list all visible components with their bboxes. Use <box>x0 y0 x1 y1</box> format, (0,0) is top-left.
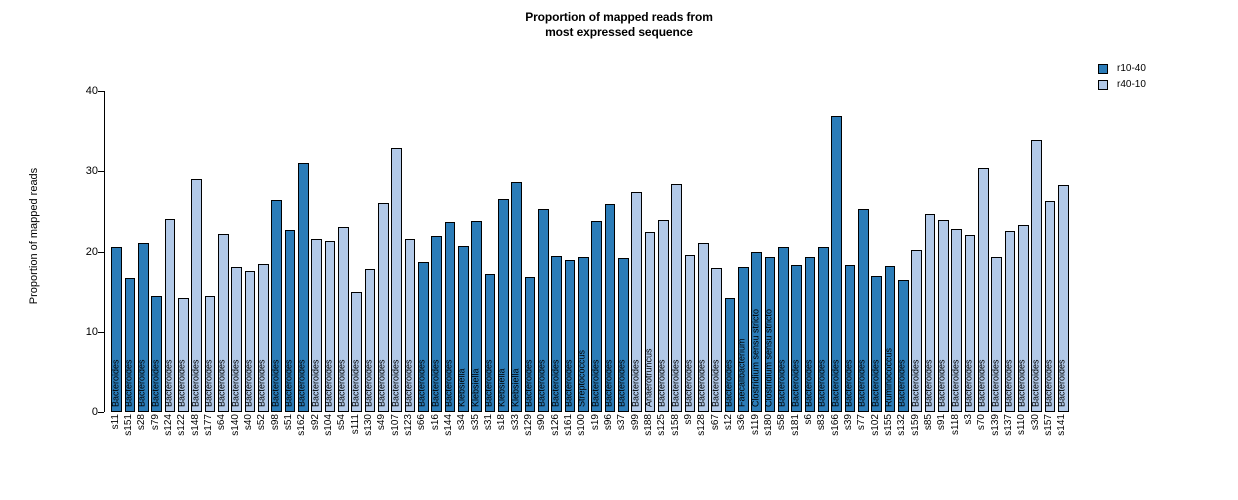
bar-s140[interactable]: Bacteroides <box>231 267 242 412</box>
legend-item-r10-40[interactable]: r10-40 <box>1098 62 1146 76</box>
plot-area: BacteroidesBacteroidesBacteroidesBactero… <box>110 91 1070 412</box>
y-tick-label-10: 10 <box>58 326 98 338</box>
bar-s9[interactable]: Bacteroides <box>685 255 696 412</box>
bar-genus-label: Bacteroides <box>791 359 796 407</box>
bar-genus-label: Bacteroides <box>711 359 716 407</box>
bar-genus-label: Bacteroides <box>1031 359 1036 407</box>
x-tick-label-s140: s140 <box>231 414 243 436</box>
x-tick-label-s18: s18 <box>497 414 509 430</box>
x-tick-label-s181: s181 <box>791 414 803 436</box>
x-tick-label-s85: s85 <box>924 414 936 430</box>
x-tick-label-s144: s144 <box>444 414 456 436</box>
bar-s181[interactable]: Bacteroides <box>791 265 802 412</box>
bar-genus-label: Bacteroides <box>298 359 303 407</box>
legend-item-r40-10[interactable]: r40-10 <box>1098 78 1146 92</box>
x-tick-label-s70: s70 <box>977 414 989 430</box>
bar-genus-label: Bacteroides <box>671 359 676 407</box>
bar-s130[interactable]: Bacteroides <box>365 269 376 412</box>
x-tick-label-s34: s34 <box>457 414 469 430</box>
bar-genus-label: Bacteroides <box>258 359 263 407</box>
x-tick-label-s12: s12 <box>724 414 736 430</box>
bar-genus-label: Bacteroides <box>191 359 196 407</box>
bar-s85[interactable]: Bacteroides <box>925 214 936 412</box>
bar-genus-label: Bacteroides <box>178 359 183 407</box>
bar-genus-label: Klebsiella <box>471 368 476 407</box>
bar-s70[interactable]: Bacteroides <box>978 168 989 412</box>
x-tick-label-s130: s130 <box>364 414 376 436</box>
x-tick-label-s137: s137 <box>1004 414 1016 436</box>
y-tick-label-40: 40 <box>58 85 98 97</box>
x-tick-label-s28: s28 <box>137 414 149 430</box>
bar-genus-label: Bacteroides <box>698 359 703 407</box>
legend-swatch-r10-40 <box>1098 64 1108 74</box>
bar-genus-label: Faecalibacterium <box>738 338 743 407</box>
y-tick-label-30: 30 <box>58 165 98 177</box>
bar-s40[interactable]: Bacteroides <box>245 271 256 412</box>
bar-genus-label: Bacteroides <box>151 359 156 407</box>
bar-s125[interactable]: Bacteroides <box>658 220 669 412</box>
x-tick-label-s54: s54 <box>337 414 349 430</box>
bar-s118[interactable]: Bacteroides <box>951 229 962 412</box>
chart-title-line2: most expressed sequence <box>0 25 1238 40</box>
x-tick-label-s99: s99 <box>631 414 643 430</box>
y-axis-line <box>104 91 105 412</box>
bar-s37[interactable]: Bacteroides <box>618 258 629 412</box>
bar-genus-label: Bacteroides <box>525 359 530 407</box>
bar-s100[interactable]: Streptococcus <box>578 257 589 412</box>
x-tick-label-s6: s6 <box>804 414 816 425</box>
x-tick-label-s39: s39 <box>844 414 856 430</box>
bar-s96[interactable]: Bacteroides <box>605 204 616 412</box>
bar-genus-label: Klebsiella <box>498 368 503 407</box>
bar-s102[interactable]: Bacteroides <box>871 276 882 412</box>
bar-genus-label: Clostridium sensu stricto <box>751 309 756 407</box>
bar-genus-label: Bacteroides <box>338 359 343 407</box>
bar-s34[interactable]: Klebsiella <box>458 246 469 412</box>
x-tick-label-s111: s111 <box>351 414 363 434</box>
bar-genus-label: Bacteroides <box>485 359 490 407</box>
bar-genus-label: Bacteroides <box>938 359 943 407</box>
x-tick-label-s67: s67 <box>711 414 723 430</box>
bar-genus-label: Bacteroides <box>1045 359 1050 407</box>
bar-s39[interactable]: Bacteroides <box>845 265 856 412</box>
bar-genus-label: Bacteroides <box>165 359 170 407</box>
x-tick-label-s33: s33 <box>511 414 523 430</box>
bar-s30[interactable]: Bacteroides <box>1031 140 1042 412</box>
x-tick-label-s51: s51 <box>284 414 296 430</box>
x-tick-label-s104: s104 <box>324 414 336 436</box>
x-tick-label-s16: s16 <box>431 414 443 430</box>
bar-genus-label: Bacteroides <box>218 359 223 407</box>
x-tick-label-s162: s162 <box>297 414 309 436</box>
x-tick-label-s126: s126 <box>551 414 563 436</box>
bar-s128[interactable]: Bacteroides <box>698 243 709 412</box>
bar-s151[interactable]: Bacteroides <box>125 278 136 412</box>
x-tick-label-s19: s19 <box>591 414 603 430</box>
bar-genus-label: Bacteroides <box>685 359 690 407</box>
x-tick-label-s177: s177 <box>204 414 216 436</box>
bar-genus-label: Bacteroides <box>271 359 276 407</box>
x-tick-label-s49: s49 <box>377 414 389 430</box>
bar-genus-label: Bacteroides <box>231 359 236 407</box>
x-tick-label-s151: s151 <box>124 414 136 436</box>
x-tick-label-s77: s77 <box>857 414 869 430</box>
bar-s111[interactable]: Bacteroides <box>351 292 362 412</box>
bar-s77[interactable]: Bacteroides <box>858 209 869 412</box>
y-tick-30 <box>98 171 104 172</box>
bar-genus-label: Bacteroides <box>1005 359 1010 407</box>
x-tick-label-s9: s9 <box>684 414 696 425</box>
x-tick-label-s90: s90 <box>537 414 549 430</box>
bar-genus-label: Bacteroides <box>551 359 556 407</box>
bar-s66[interactable]: Bacteroides <box>418 262 429 412</box>
bar-s90[interactable]: Bacteroides <box>538 209 549 412</box>
x-tick-label-s110: s110 <box>1017 414 1029 435</box>
x-tick-label-s157: s157 <box>1044 414 1056 436</box>
x-tick-label-s188: s188 <box>644 414 656 436</box>
x-tick-label-s125: s125 <box>657 414 669 436</box>
bar-s54[interactable]: Bacteroides <box>338 227 349 412</box>
chart-title-line1: Proportion of mapped reads from <box>525 10 713 24</box>
bar-s83[interactable]: Bacteroides <box>818 247 829 412</box>
bar-s132[interactable]: Bacteroides <box>898 280 909 412</box>
x-tick-label-s124: s124 <box>164 414 176 436</box>
y-tick-40 <box>98 91 104 92</box>
x-tick-label-s31: s31 <box>484 414 496 430</box>
bar-genus-label: Bacteroides <box>605 359 610 407</box>
x-tick-label-s158: s158 <box>671 414 683 436</box>
bar-s58[interactable]: Bacteroides <box>778 247 789 412</box>
x-tick-label-s122: s122 <box>177 414 189 436</box>
x-tick-label-s155: s155 <box>884 414 896 436</box>
x-tick-label-s107: s107 <box>391 414 403 436</box>
bar-s129[interactable]: Bacteroides <box>525 277 536 412</box>
bar-s166[interactable]: Bacteroides <box>831 116 842 412</box>
x-tick-label-s30: s30 <box>1031 414 1043 430</box>
bar-s139[interactable]: Bacteroides <box>991 257 1002 412</box>
bar-s31[interactable]: Bacteroides <box>485 274 496 412</box>
bar-s51[interactable]: Bacteroides <box>285 230 296 412</box>
bar-s28[interactable]: Bacteroides <box>138 243 149 412</box>
bar-genus-label: Bacteroides <box>418 359 423 407</box>
y-tick-20 <box>98 252 104 253</box>
x-tick-label-s64: s64 <box>217 414 229 430</box>
bar-chart-figure: Proportion of mapped reads from most exp… <box>0 0 1238 500</box>
bar-s98[interactable]: Bacteroides <box>271 200 282 412</box>
bar-genus-label: Bacteroides <box>391 359 396 407</box>
bar-s119[interactable]: Clostridium sensu stricto <box>751 252 762 412</box>
bar-genus-label: Streptococcus <box>578 350 583 407</box>
bar-s141[interactable]: Bacteroides <box>1058 185 1069 412</box>
bar-s11[interactable]: Bacteroides <box>111 247 122 412</box>
x-tick-label-s11: s11 <box>111 414 123 429</box>
chart-title: Proportion of mapped reads from most exp… <box>0 10 1238 40</box>
x-tick-label-s180: s180 <box>764 414 776 436</box>
bar-s148[interactable]: Bacteroides <box>191 179 202 412</box>
bar-s18[interactable]: Klebsiella <box>498 199 509 412</box>
bar-genus-label: Klebsiella <box>458 368 463 407</box>
bar-genus-label: Bacteroides <box>205 359 210 407</box>
bar-genus-label: Bacteroides <box>805 359 810 407</box>
bar-s177[interactable]: Bacteroides <box>205 296 216 412</box>
bar-genus-label: Bacteroides <box>365 359 370 407</box>
x-tick-label-s139: s139 <box>991 414 1003 436</box>
bar-genus-label: Bacteroides <box>351 359 356 407</box>
bar-genus-label: Bacteroides <box>831 359 836 407</box>
legend-label-r10-40: r10-40 <box>1117 64 1146 74</box>
bar-s91[interactable]: Bacteroides <box>938 220 949 412</box>
x-tick-label-s79: s79 <box>151 414 163 430</box>
y-tick-label-0: 0 <box>58 406 98 418</box>
x-tick-label-s132: s132 <box>897 414 909 436</box>
bar-s188[interactable]: Anaerotruncus <box>645 232 656 412</box>
chart-legend: r10-40 r40-10 <box>1098 62 1146 94</box>
x-tick-label-s52: s52 <box>257 414 269 430</box>
bar-s180[interactable]: Clostridium sensu stricto <box>765 257 776 412</box>
x-tick-label-s118: s118 <box>951 414 963 435</box>
bar-s104[interactable]: Bacteroides <box>325 241 336 412</box>
bar-s126[interactable]: Bacteroides <box>551 256 562 412</box>
x-tick-label-s129: s129 <box>524 414 536 436</box>
bar-s162[interactable]: Bacteroides <box>298 163 309 412</box>
x-tick-label-s92: s92 <box>311 414 323 430</box>
bar-genus-label: Bacteroides <box>965 359 970 407</box>
x-tick-label-s102: s102 <box>871 414 883 436</box>
bar-genus-label: Bacteroides <box>845 359 850 407</box>
x-tick-label-s159: s159 <box>911 414 923 436</box>
bar-s157[interactable]: Bacteroides <box>1045 201 1056 412</box>
bar-genus-label: Bacteroides <box>138 359 143 407</box>
x-tick-label-s98: s98 <box>271 414 283 430</box>
bar-s123[interactable]: Bacteroides <box>405 239 416 412</box>
bar-s6[interactable]: Bacteroides <box>805 257 816 412</box>
x-tick-label-s166: s166 <box>831 414 843 436</box>
legend-label-r40-10: r40-10 <box>1117 80 1146 90</box>
bar-s3[interactable]: Bacteroides <box>965 235 976 412</box>
bar-genus-label: Anaerotruncus <box>645 348 650 407</box>
bar-genus-label: Bacteroides <box>565 359 570 407</box>
y-tick-label-20: 20 <box>58 246 98 258</box>
x-tick-label-s100: s100 <box>577 414 589 436</box>
bar-genus-label: Bacteroides <box>978 359 983 407</box>
bar-genus-label: Bacteroides <box>925 359 930 407</box>
bar-s124[interactable]: Bacteroides <box>165 219 176 412</box>
x-tick-label-s141: s141 <box>1057 414 1069 436</box>
bar-s36[interactable]: Faecalibacterium <box>738 267 749 412</box>
bar-s16[interactable]: Bacteroides <box>431 236 442 412</box>
bar-genus-label: Ruminococcus <box>885 348 890 407</box>
bar-genus-label: Bacteroides <box>125 359 130 407</box>
bar-s49[interactable]: Bacteroides <box>378 203 389 412</box>
bar-s122[interactable]: Bacteroides <box>178 298 189 412</box>
bar-s35[interactable]: Klebsiella <box>471 221 482 412</box>
x-tick-label-s119: s119 <box>751 414 763 435</box>
bar-s161[interactable]: Bacteroides <box>565 260 576 412</box>
bar-genus-label: Bacteroides <box>111 359 116 407</box>
bar-genus-label: Bacteroides <box>725 359 730 407</box>
bar-genus-label: Bacteroides <box>405 359 410 407</box>
bar-s110[interactable]: Bacteroides <box>1018 225 1029 412</box>
bar-genus-label: Bacteroides <box>951 359 956 407</box>
x-tick-label-s123: s123 <box>404 414 416 436</box>
bar-genus-label: Bacteroides <box>898 359 903 407</box>
bar-genus-label: Bacteroides <box>911 359 916 407</box>
bar-genus-label: Bacteroides <box>618 359 623 407</box>
bar-genus-label: Bacteroides <box>818 359 823 407</box>
bar-genus-label: Bacteroides <box>658 359 663 407</box>
bar-genus-label: Bacteroides <box>631 359 636 407</box>
x-tick-label-s66: s66 <box>417 414 429 430</box>
legend-swatch-r40-10 <box>1098 80 1108 90</box>
bar-genus-label: Bacteroides <box>1058 359 1063 407</box>
bar-s12[interactable]: Bacteroides <box>725 298 736 412</box>
x-tick-label-s3: s3 <box>964 414 976 425</box>
x-tick-label-s161: s161 <box>564 414 576 436</box>
bar-s67[interactable]: Bacteroides <box>711 268 722 412</box>
bar-s19[interactable]: Bacteroides <box>591 221 602 412</box>
bar-s92[interactable]: Bacteroides <box>311 239 322 412</box>
bar-s79[interactable]: Bacteroides <box>151 296 162 412</box>
bar-genus-label: Bacteroides <box>311 359 316 407</box>
bar-s158[interactable]: Bacteroides <box>671 184 682 412</box>
x-axis-labels: s11s151s28s79s124s122s148s177s64s140s40s… <box>110 414 1070 494</box>
x-tick-label-s128: s128 <box>697 414 709 436</box>
bar-genus-label: Bacteroides <box>538 359 543 407</box>
bar-s99[interactable]: Bacteroides <box>631 192 642 412</box>
bar-genus-label: Bacteroides <box>1018 359 1023 407</box>
x-tick-label-s96: s96 <box>604 414 616 430</box>
bar-s64[interactable]: Bacteroides <box>218 234 229 412</box>
y-axis-title: Proportion of mapped reads <box>28 106 40 366</box>
bar-genus-label: Bacteroides <box>871 359 876 407</box>
bar-genus-label: Bacteroides <box>858 359 863 407</box>
bar-genus-label: Klebsiella <box>511 368 516 407</box>
bar-genus-label: Bacteroides <box>245 359 250 407</box>
y-tick-10 <box>98 332 104 333</box>
bar-s159[interactable]: Bacteroides <box>911 250 922 412</box>
x-tick-label-s37: s37 <box>617 414 629 430</box>
bar-genus-label: Clostridium sensu stricto <box>765 309 770 407</box>
bar-genus-label: Bacteroides <box>991 359 996 407</box>
bar-genus-label: Bacteroides <box>285 359 290 407</box>
x-tick-label-s58: s58 <box>777 414 789 430</box>
bar-genus-label: Bacteroides <box>778 359 783 407</box>
x-tick-label-s36: s36 <box>737 414 749 430</box>
bar-genus-label: Bacteroides <box>325 359 330 407</box>
bar-genus-label: Bacteroides <box>431 359 436 407</box>
bar-s33[interactable]: Klebsiella <box>511 182 522 412</box>
bar-s52[interactable]: Bacteroides <box>258 264 269 412</box>
bar-s144[interactable]: Bacteroides <box>445 222 456 412</box>
x-tick-label-s40: s40 <box>244 414 256 430</box>
x-tick-label-s35: s35 <box>471 414 483 430</box>
y-tick-0 <box>98 412 104 413</box>
bar-s107[interactable]: Bacteroides <box>391 148 402 412</box>
x-tick-label-s83: s83 <box>817 414 829 430</box>
bar-genus-label: Bacteroides <box>591 359 596 407</box>
bar-s155[interactable]: Ruminococcus <box>885 266 896 412</box>
bar-s137[interactable]: Bacteroides <box>1005 231 1016 412</box>
bar-genus-label: Bacteroides <box>445 359 450 407</box>
bar-genus-label: Bacteroides <box>378 359 383 407</box>
x-tick-label-s91: s91 <box>937 414 949 430</box>
x-tick-label-s148: s148 <box>191 414 203 436</box>
